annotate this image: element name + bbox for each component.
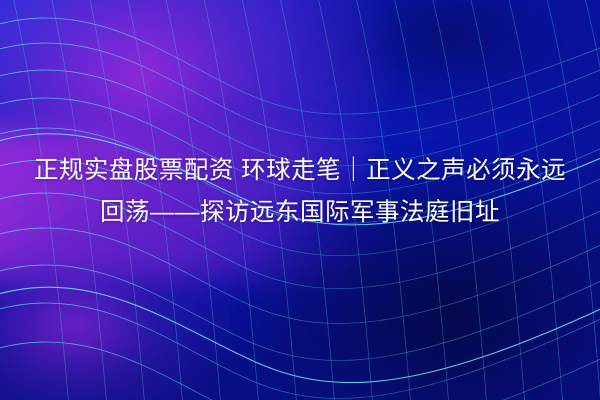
- banner-title-line-2: 回荡——探访远东国际军事法庭旧址: [14, 192, 586, 234]
- banner-image: 正规实盘股票配资 环球走笔｜正义之声必须永远 回荡——探访远东国际军事法庭旧址: [0, 0, 600, 400]
- banner-title: 正规实盘股票配资 环球走笔｜正义之声必须永远 回荡——探访远东国际军事法庭旧址: [0, 150, 600, 234]
- banner-title-line-1: 正规实盘股票配资 环球走笔｜正义之声必须永远: [14, 150, 586, 192]
